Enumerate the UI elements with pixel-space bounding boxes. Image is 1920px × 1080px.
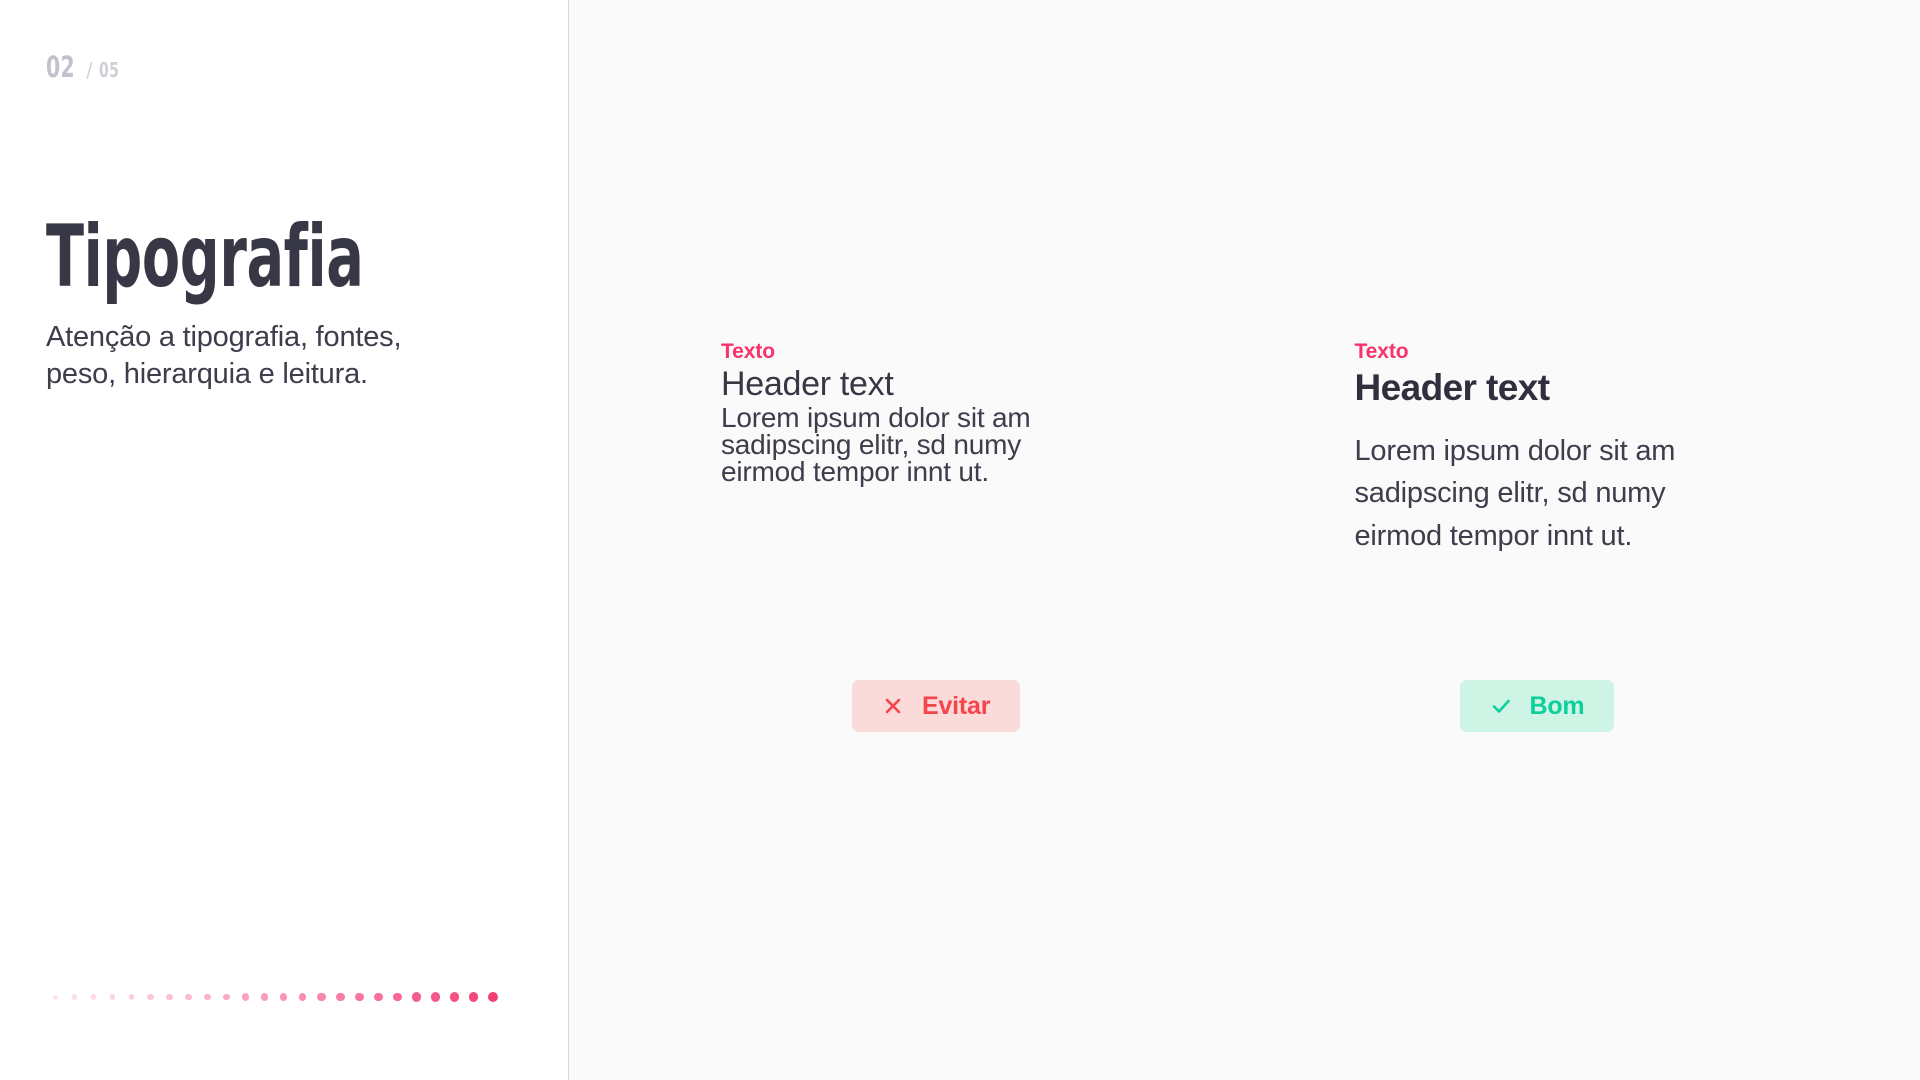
progress-dot: [426, 990, 445, 1004]
slide-pager: 02 / 05: [46, 50, 125, 84]
progress-dot: [217, 990, 236, 1004]
progress-dot: [84, 990, 103, 1004]
check-icon: [1490, 695, 1512, 717]
progress-dot-row: [46, 990, 502, 1004]
pager-current-number: 02: [46, 50, 75, 84]
sample-body-bad: Lorem ipsum dolor sit am sadipscing elit…: [721, 404, 1093, 485]
left-panel: 02 / 05 Tipografia Atenção a tipografia,…: [0, 0, 569, 1080]
sample-bad: Texto Header text Lorem ipsum dolor sit …: [721, 340, 1121, 485]
pager-separator: /: [86, 58, 93, 82]
progress-dot: [141, 990, 160, 1004]
progress-dot: [122, 990, 141, 1004]
page-title: Tipografia: [46, 218, 384, 297]
progress-dot: [312, 990, 331, 1004]
progress-dot: [255, 990, 274, 1004]
badge-evitar[interactable]: Evitar: [852, 680, 1020, 732]
progress-dot: [407, 990, 426, 1004]
progress-dot: [65, 990, 84, 1004]
comparison-column-good: Texto Header text Lorem ipsum dolor sit …: [1245, 0, 1920, 1080]
progress-dot: [198, 990, 217, 1004]
progress-dot: [350, 990, 369, 1004]
progress-dot: [388, 990, 407, 1004]
progress-dot: [236, 990, 255, 1004]
sample-good: Texto Header text Lorem ipsum dolor sit …: [1355, 340, 1755, 557]
page-subtitle: Atenção a tipografia, fontes, peso, hier…: [46, 319, 476, 393]
progress-dot: [46, 990, 65, 1004]
progress-dot: [483, 990, 502, 1004]
badge-bom[interactable]: Bom: [1460, 680, 1615, 732]
eyebrow-label-good: Texto: [1355, 340, 1755, 364]
badge-bom-label: Bom: [1530, 692, 1585, 721]
progress-dot: [331, 990, 350, 1004]
progress-dot: [293, 990, 312, 1004]
right-panel: Texto Header text Lorem ipsum dolor sit …: [569, 0, 1920, 1080]
slide-root: 02 / 05 Tipografia Atenção a tipografia,…: [0, 0, 1920, 1080]
eyebrow-label-bad: Texto: [721, 340, 1121, 364]
comparison-column-bad: Texto Header text Lorem ipsum dolor sit …: [569, 0, 1245, 1080]
progress-dot: [369, 990, 388, 1004]
sample-header-bad: Header text: [721, 367, 1121, 403]
pager-total-number: 05: [99, 58, 119, 82]
title-block: Tipografia Atenção a tipografia, fontes,…: [46, 218, 516, 393]
progress-dot: [160, 990, 179, 1004]
sample-body-good: Lorem ipsum dolor sit am sadipscing elit…: [1355, 430, 1737, 556]
progress-dot: [464, 990, 483, 1004]
progress-dot: [179, 990, 198, 1004]
progress-dot: [103, 990, 122, 1004]
progress-dot: [274, 990, 293, 1004]
close-icon: [882, 695, 904, 717]
badge-evitar-label: Evitar: [922, 692, 990, 721]
sample-header-good: Header text: [1355, 367, 1755, 408]
progress-dot: [445, 990, 464, 1004]
